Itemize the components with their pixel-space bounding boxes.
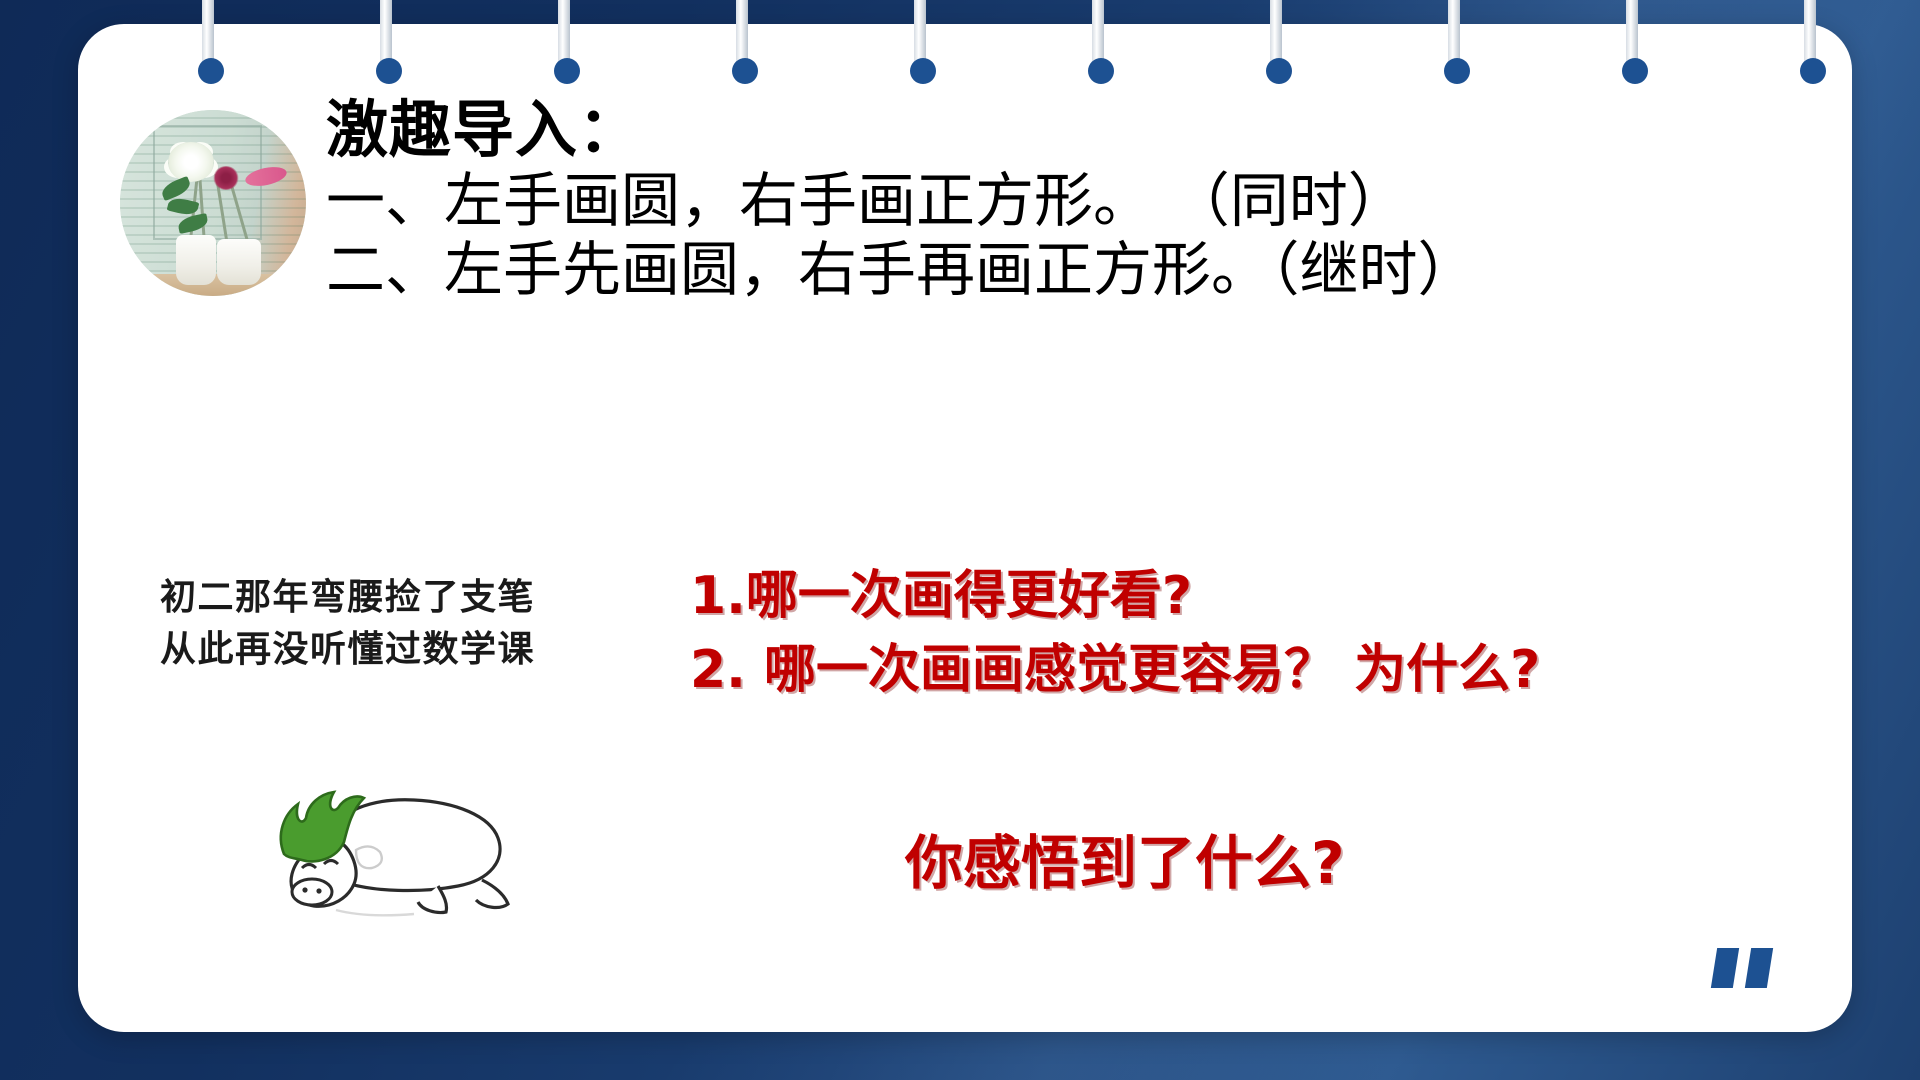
spiral-ring-knob	[732, 58, 758, 84]
instruction-line-1: 一、左手画圆，右手画正方形。 （同时）	[326, 166, 1746, 235]
spiral-ring-knob	[198, 58, 224, 84]
reflection-block: 你感悟到了什么?	[905, 822, 1345, 904]
spiral-binding	[0, 0, 1920, 120]
slide-canvas: 激趣导入： 一、左手画圆，右手画正方形。 （同时） 二、左手先画圆，右手再画正方…	[0, 0, 1920, 1080]
quote-mark-icon	[1714, 948, 1770, 988]
meme-line-1: 初二那年弯腰捡了支笔	[160, 572, 600, 624]
question-block: 1.哪一次画得更好看? 2. 哪一次画画感觉更容易？ 为什么?	[690, 560, 1790, 708]
spiral-ring-knob	[554, 58, 580, 84]
instruction-line-2: 二、左手先画圆，右手再画正方形。（继时）	[326, 235, 1746, 304]
question-item-2: 2. 哪一次画画感觉更容易？ 为什么?	[690, 634, 1790, 708]
flower-vase-photo	[120, 110, 306, 296]
spiral-ring-knob	[910, 58, 936, 84]
lying-cow-cartoon-icon	[232, 760, 552, 920]
reflection-question: 你感悟到了什么?	[905, 822, 1345, 904]
spiral-ring-knob	[1266, 58, 1292, 84]
header-text-block: 激趣导入： 一、左手画圆，右手画正方形。 （同时） 二、左手先画圆，右手再画正方…	[326, 94, 1746, 304]
spiral-ring-knob	[1622, 58, 1648, 84]
spiral-ring-knob	[1088, 58, 1114, 84]
spiral-ring-knob	[376, 58, 402, 84]
meme-line-2: 从此再没听懂过数学课	[160, 624, 600, 676]
spiral-ring-knob	[1444, 58, 1470, 84]
meme-caption-block: 初二那年弯腰捡了支笔 从此再没听懂过数学课	[160, 572, 600, 676]
spiral-ring-knob	[1800, 58, 1826, 84]
question-item-1: 1.哪一次画得更好看?	[690, 560, 1790, 634]
